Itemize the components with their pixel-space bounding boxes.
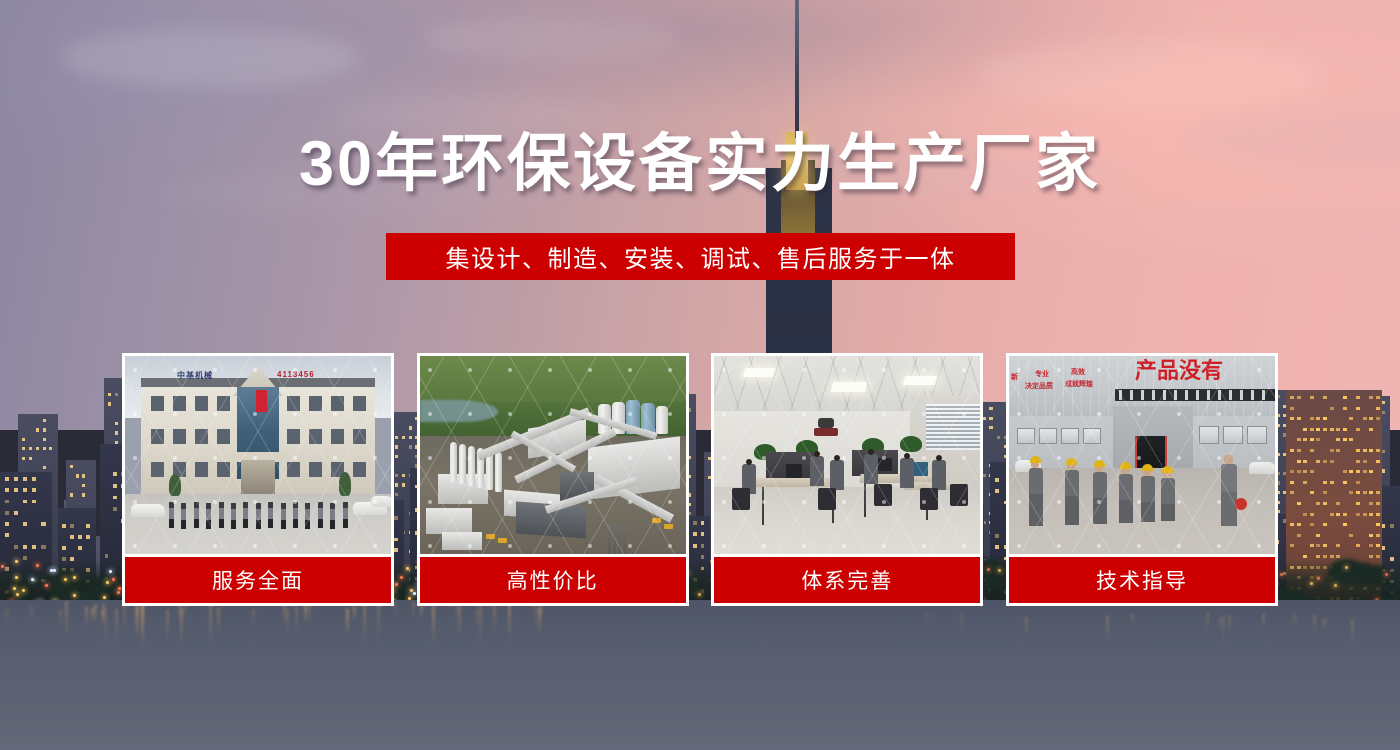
factory-wall-slogan-sub-2: 成就辉煌: [1065, 381, 1093, 390]
feature-card[interactable]: 体系完善: [711, 353, 983, 606]
card-caption: 技术指导: [1009, 557, 1275, 603]
factory-wall-slogan-small-1: 新: [1011, 374, 1018, 383]
subtitle-banner: 集设计、制造、安装、调试、售后服务于一体: [386, 233, 1015, 280]
factory-wall-slogan-sub-1: 决定品质: [1025, 383, 1053, 392]
card-photo-company-building: 中基机械 4113456: [125, 356, 391, 554]
building-sign-text: 中基机械: [177, 370, 213, 381]
factory-wall-slogan-large: 产品没有: [1135, 361, 1223, 383]
card-photo-office-interior: [714, 356, 980, 554]
card-caption: 体系完善: [714, 557, 980, 603]
card-caption-label: 技术指导: [1096, 565, 1188, 595]
landmark-tower-spire: [795, 0, 799, 138]
card-caption: 高性价比: [420, 557, 686, 603]
feature-card[interactable]: 中基机械 4113456 服务全面: [122, 353, 394, 606]
card-caption-label: 高性价比: [507, 565, 599, 595]
page-title: 30年环保设备实力生产厂家: [0, 133, 1400, 196]
factory-wall-slogan-small-3: 高效: [1071, 369, 1085, 378]
card-caption: 服务全面: [125, 557, 391, 603]
feature-card[interactable]: 产品没有 新 专业 高效 决定品质 成就辉煌 技术指导: [1006, 353, 1278, 606]
factory-wall-slogan-small-2: 专业: [1035, 371, 1049, 380]
building-phone-text: 4113456: [277, 370, 315, 379]
card-photo-industrial-plant: [420, 356, 686, 554]
card-caption-label: 服务全面: [212, 565, 304, 595]
feature-card-list: 中基机械 4113456 服务全面 高性价比: [122, 353, 1278, 606]
feature-card[interactable]: 高性价比: [417, 353, 689, 606]
banner-stage: 30年环保设备实力生产厂家 集设计、制造、安装、调试、售后服务于一体 中基机械 …: [0, 0, 1400, 750]
landmark-tower-spire-tip: [796, 0, 798, 15]
subtitle-text: 集设计、制造、安装、调试、售后服务于一体: [446, 239, 956, 274]
card-caption-label: 体系完善: [801, 565, 893, 595]
card-photo-factory-workers: 产品没有 新 专业 高效 决定品质 成就辉煌: [1009, 356, 1275, 554]
